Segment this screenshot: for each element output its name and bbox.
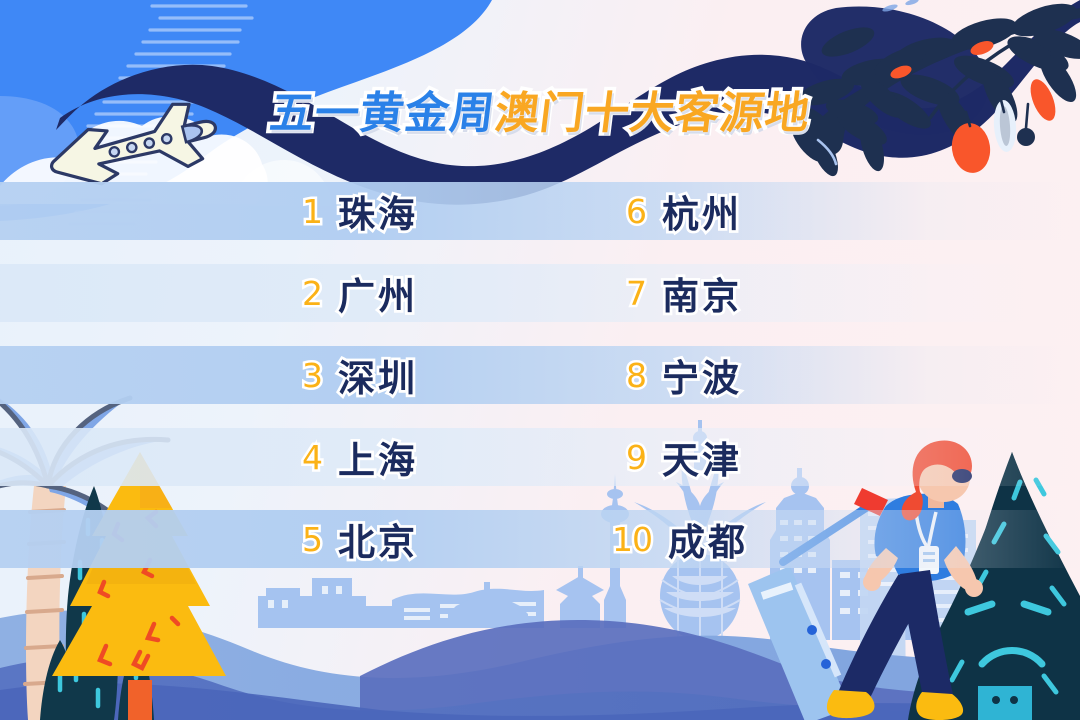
ranking-list: 1 珠海 6 杭州 2 广州 7 南京 xyxy=(0,182,1080,592)
city-name: 杭州 xyxy=(662,184,742,238)
branch-accent-strokes xyxy=(818,140,836,164)
page-title: 五一黄金周澳门十大客源地 xyxy=(0,88,1080,140)
title-segment-orange: 澳门十大客源地 xyxy=(492,88,813,139)
city-name: 天津 xyxy=(662,430,742,484)
city-name: 珠海 xyxy=(338,184,418,238)
wave-hills-shape-front xyxy=(0,658,1080,720)
rank-number: 8 xyxy=(612,356,646,395)
city-name: 深圳 xyxy=(338,348,418,402)
city-name: 上海 xyxy=(338,430,418,484)
rank-number: 2 xyxy=(288,274,322,313)
city-name: 北京 xyxy=(338,512,418,566)
rank-number: 1 xyxy=(288,192,322,231)
rank-number: 9 xyxy=(612,438,646,477)
rank-number: 3 xyxy=(288,356,322,395)
rank-number: 10 xyxy=(612,520,652,559)
poster-canvas: 1 珠海 6 杭州 2 广州 7 南京 xyxy=(0,0,1080,720)
rank-number: 6 xyxy=(612,192,646,231)
ranking-entry[interactable]: 10 成都 xyxy=(612,510,748,568)
ranking-entry[interactable]: 6 杭州 xyxy=(612,182,742,240)
ranking-entry[interactable]: 3 深圳 xyxy=(288,346,418,404)
ranking-row: 1 珠海 6 杭州 xyxy=(0,182,1080,240)
city-name: 宁波 xyxy=(662,348,742,402)
branch-specks xyxy=(882,0,920,13)
conifer-face xyxy=(968,604,1048,664)
rank-number: 5 xyxy=(288,520,322,559)
ranking-row: 3 深圳 8 宁波 xyxy=(0,346,1080,404)
rank-number: 7 xyxy=(612,274,646,313)
ranking-entry[interactable]: 8 宁波 xyxy=(612,346,742,404)
city-name: 南京 xyxy=(662,266,742,320)
ranking-entry[interactable]: 2 广州 xyxy=(288,264,418,322)
ranking-entry[interactable]: 7 南京 xyxy=(612,264,742,322)
ranking-row: 4 上海 9 天津 xyxy=(0,428,1080,486)
city-name: 广州 xyxy=(338,266,418,320)
ranking-row: 5 北京 10 成都 xyxy=(0,510,1080,568)
ranking-entry[interactable]: 1 珠海 xyxy=(288,182,418,240)
wave-hills-shape-mid xyxy=(360,620,1080,720)
ranking-row: 2 广州 7 南京 xyxy=(0,264,1080,322)
ranking-entry[interactable]: 4 上海 xyxy=(288,428,418,486)
rank-number: 4 xyxy=(288,438,322,477)
title-segment-blue: 五一黄金周 xyxy=(267,88,498,139)
ranking-entry[interactable]: 5 北京 xyxy=(288,510,418,568)
ranking-entry[interactable]: 9 天津 xyxy=(612,428,742,486)
wave-hills-shape-deep xyxy=(0,683,1080,720)
wave-hills-shape xyxy=(0,611,1080,720)
city-name: 成都 xyxy=(668,512,748,566)
